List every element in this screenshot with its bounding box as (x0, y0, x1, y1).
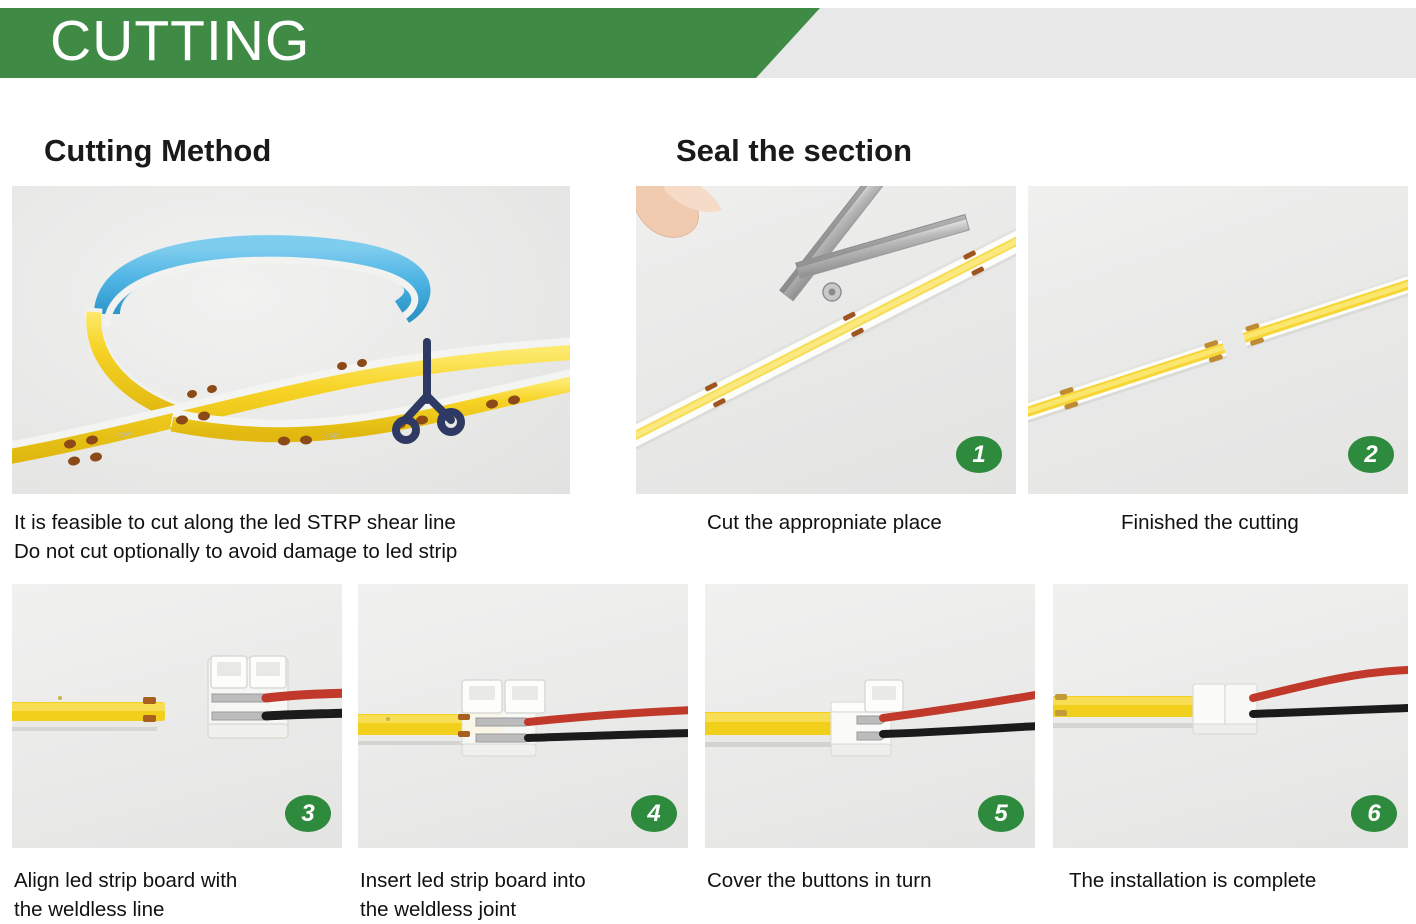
step-badge: 1 (956, 436, 1002, 473)
heading-cutting-method: Cutting Method (44, 133, 271, 169)
scissors-icon (389, 338, 465, 448)
photo-step-5: 5 (705, 584, 1035, 848)
led-strip-coil-illustration: +24V +24V (12, 186, 570, 494)
svg-text:+24V: +24V (115, 430, 133, 440)
photo-cutting-method-coil: +24V +24V (12, 186, 570, 494)
caption-step-1: Cut the appropniate place (707, 508, 1027, 537)
photo-step-6: 6 (1053, 584, 1408, 848)
caption-step-4: Insert led strip board into the weldless… (360, 866, 680, 924)
caption-cutting-method-line2: Do not cut optionally to avoid damage to… (14, 537, 614, 566)
photo-step-4: 4 (358, 584, 688, 848)
step-badge: 4 (631, 795, 677, 832)
caption-cutting-method-line1: It is feasible to cut along the led STRP… (14, 508, 614, 537)
caption-step-6: The installation is complete (1069, 866, 1409, 895)
caption-step-2: Finished the cutting (1121, 508, 1416, 537)
heading-seal-the-section: Seal the section (676, 133, 912, 169)
step-badge: 6 (1351, 795, 1397, 832)
photo-step-2: 2 (1028, 186, 1408, 494)
step-badge: 2 (1348, 436, 1394, 473)
step-badge: 5 (978, 795, 1024, 832)
photo-step-1: 1 (636, 186, 1016, 494)
caption-step-3: Align led strip board with the weldless … (14, 866, 334, 924)
page-title: CUTTING (50, 6, 310, 76)
page-header: CUTTING (0, 8, 1416, 78)
photo-step-3: 3 (12, 584, 342, 848)
step-badge: 3 (285, 795, 331, 832)
caption-step-5: Cover the buttons in turn (707, 866, 1027, 895)
svg-text:+24V: +24V (324, 433, 341, 440)
